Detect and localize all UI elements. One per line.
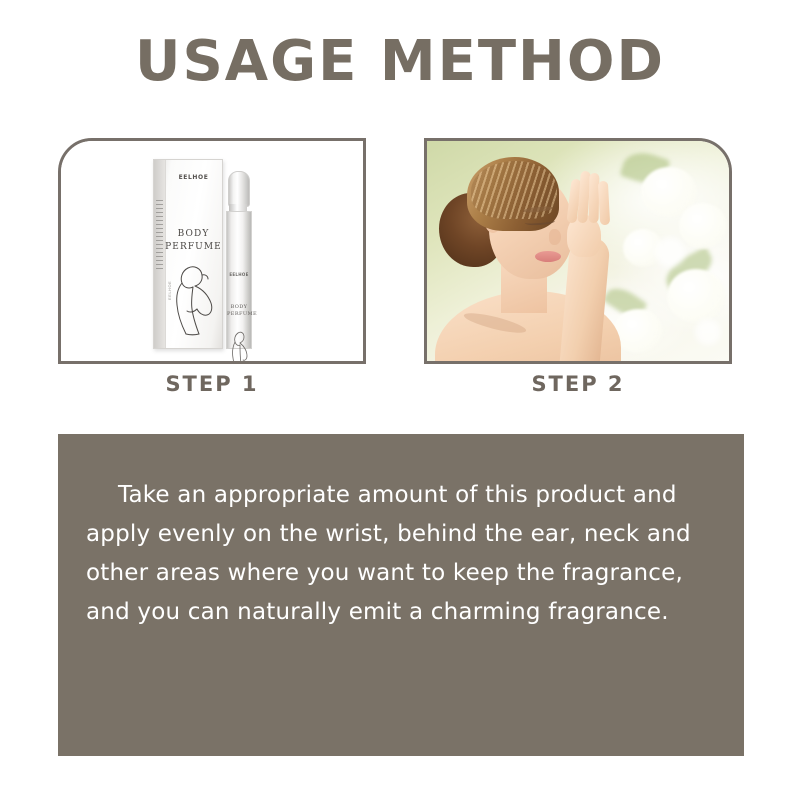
blossom-shape xyxy=(667,269,725,323)
roller-line-art-figure xyxy=(230,330,250,364)
lifestyle-photo xyxy=(427,141,729,361)
step-2-caption: STEP 2 xyxy=(424,372,732,396)
lips xyxy=(535,251,561,262)
nose xyxy=(549,229,561,245)
description-block: Take an appropriate amount of this produ… xyxy=(58,434,744,756)
roller-cap xyxy=(228,171,250,207)
bokeh-highlight xyxy=(695,319,721,345)
step-1-caption: STEP 1 xyxy=(58,372,366,396)
bokeh-highlight xyxy=(655,237,685,267)
step-2-panel xyxy=(424,138,732,364)
page-title: USAGE METHOD xyxy=(0,32,800,92)
carton-product-name: BODY PERFUME xyxy=(165,228,222,254)
roller-name-line-2: PERFUME xyxy=(227,311,251,318)
product-roller-bottle: EELHOE BODY PERFUME xyxy=(225,171,251,347)
product-carton: EELHOE BODY PERFUME xyxy=(153,159,223,349)
carton-name-line-1: BODY xyxy=(165,228,222,241)
carton-side-code: EELHOE xyxy=(167,281,172,300)
carton-brand-label: EELHOE xyxy=(165,174,222,181)
roller-brand-label: EELHOE xyxy=(227,272,251,277)
blossom-shape xyxy=(679,203,727,249)
steps-row: EELHOE BODY PERFUME xyxy=(58,138,744,370)
usage-method-infographic: USAGE METHOD EELHOE BODY PERFUME xyxy=(0,0,800,800)
step-1-panel: EELHOE BODY PERFUME xyxy=(58,138,366,364)
carton-spine-lines xyxy=(156,200,163,272)
carton-name-line-2: PERFUME xyxy=(165,241,222,254)
carton-spine xyxy=(154,160,166,348)
finger xyxy=(598,181,610,225)
roller-body: EELHOE BODY PERFUME xyxy=(226,211,252,349)
roller-name-line-1: BODY xyxy=(227,304,251,311)
carton-line-art-figure xyxy=(168,264,220,336)
roller-product-name: BODY PERFUME xyxy=(227,304,251,318)
description-text: Take an appropriate amount of this produ… xyxy=(86,476,718,632)
product-photo: EELHOE BODY PERFUME xyxy=(61,141,363,361)
